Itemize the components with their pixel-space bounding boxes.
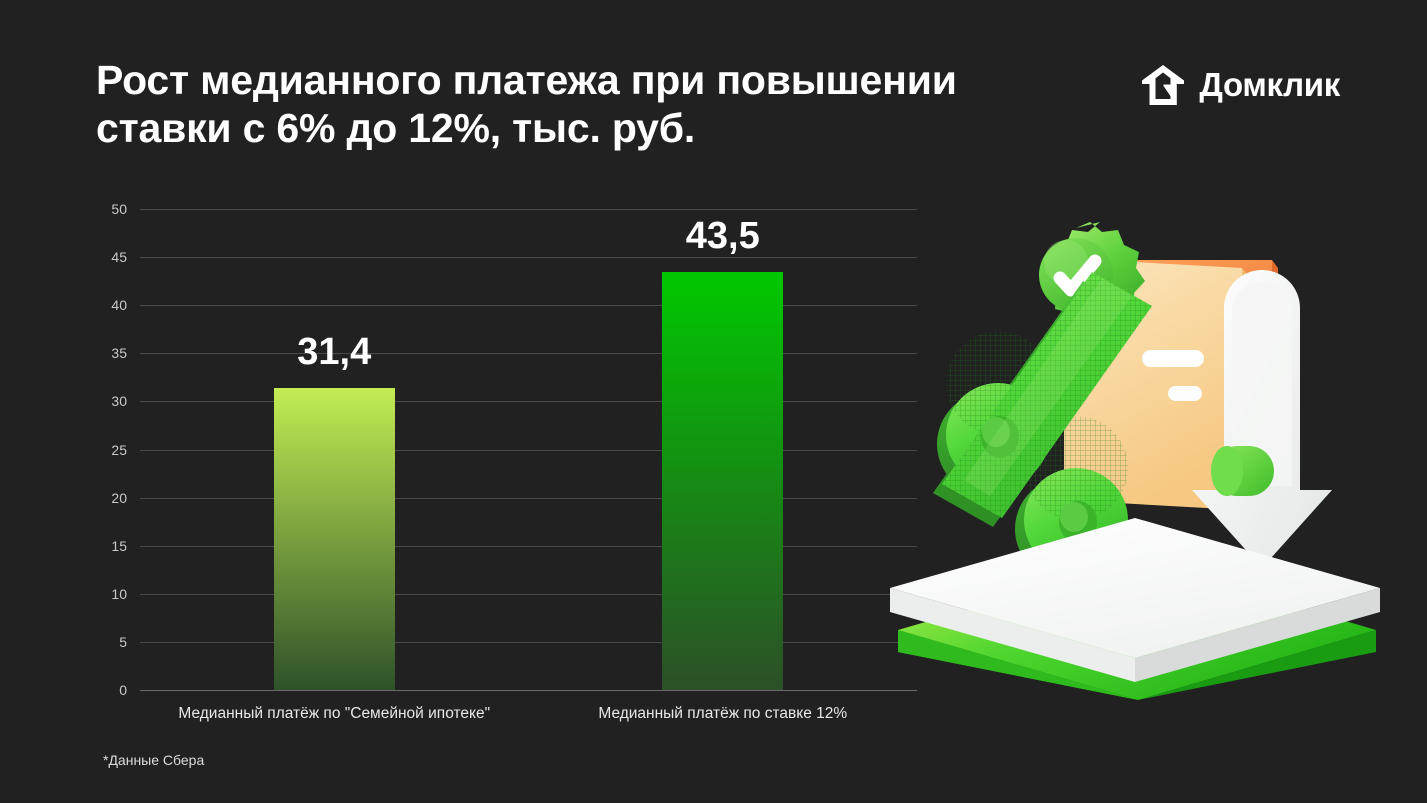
gridline [140,401,917,402]
y-axis-tick-label: 15 [87,538,127,554]
y-axis-tick-label: 35 [87,345,127,361]
gridline [140,498,917,499]
y-axis-tick-label: 40 [87,297,127,313]
footnote-source: *Данные Сбера [103,752,204,768]
x-axis-category-label: Медианный платёж по "Семейной ипотеке" [178,705,490,723]
bar-1[interactable]: 31,4 [274,388,395,690]
gridline [140,257,917,258]
percent-document-3d-illustration [880,200,1390,700]
domclick-house-icon [1140,62,1186,108]
bar-value-label: 31,4 [297,331,371,374]
bar-value-label: 43,5 [686,215,760,258]
bar-chart: 0510152025303540455031,4Медианный платёж… [0,175,930,735]
page-title: Рост медианного платежа при повышении ст… [96,57,1116,153]
gridline [140,546,917,547]
y-axis-tick-label: 45 [87,249,127,265]
gridline [140,209,917,210]
brand-logo-text: Домклик [1199,66,1340,104]
y-axis-tick-label: 20 [87,490,127,506]
x-axis-category-label: Медианный платёж по ставке 12% [598,705,847,723]
header: Рост медианного платежа при повышении ст… [0,0,1427,175]
plot-area: 0510152025303540455031,4Медианный платёж… [140,209,917,690]
platform-slab [890,518,1380,700]
y-axis-tick-label: 25 [87,442,127,458]
gridline [140,305,917,306]
y-axis-tick-label: 30 [87,393,127,409]
y-axis-tick-label: 5 [87,634,127,650]
y-axis-tick-label: 10 [87,586,127,602]
y-axis-tick-label: 50 [87,201,127,217]
gridline [140,594,917,595]
gridline [140,642,917,643]
brand-logo[interactable]: Домклик [1140,62,1340,108]
green-pill [1211,446,1274,496]
gridline [140,690,917,691]
y-axis-tick-label: 0 [87,682,127,698]
bar-2[interactable]: 43,5 [662,272,783,690]
gridline [140,450,917,451]
gridline [140,353,917,354]
